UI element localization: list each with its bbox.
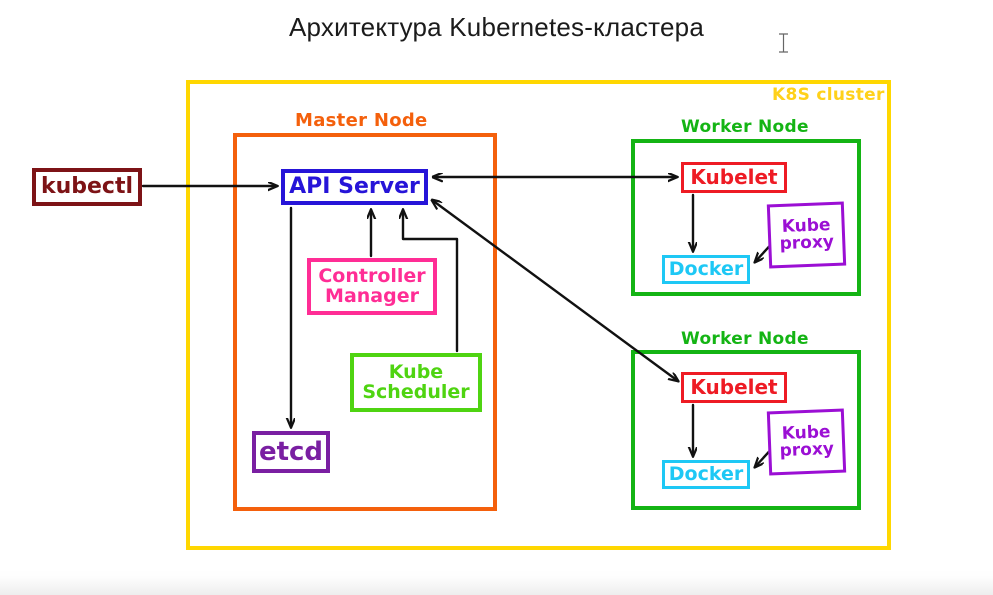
controller-manager-box[interactable]: Controller Manager [307,258,437,315]
kubelet-box-2[interactable]: Kubelet [681,372,787,403]
kube-scheduler-box[interactable]: Kube Scheduler [350,353,482,412]
text-caret-icon [778,33,789,53]
slide-canvas: Архитектура Kubernetes-кластера K8S clus… [0,0,993,572]
docker-box-1[interactable]: Docker [662,255,750,284]
etcd-box[interactable]: etcd [252,431,330,473]
docker-box-2[interactable]: Docker [662,460,750,489]
master-node-label: Master Node [295,110,428,131]
kubectl-box[interactable]: kubectl [32,168,142,206]
worker-node-1-label: Worker Node [681,117,809,137]
page-bottom-edge [0,570,993,595]
api-server-box[interactable]: API Server [281,169,428,205]
kubelet-box-1[interactable]: Kubelet [681,162,787,193]
kube-proxy-box-2[interactable]: Kube proxy [767,409,846,476]
worker-node-2-label: Worker Node [681,329,809,349]
k8s-cluster-label: K8S cluster [772,85,885,105]
kube-proxy-box-1[interactable]: Kube proxy [767,202,846,269]
page-title: Архитектура Kubernetes-кластера [0,12,993,43]
